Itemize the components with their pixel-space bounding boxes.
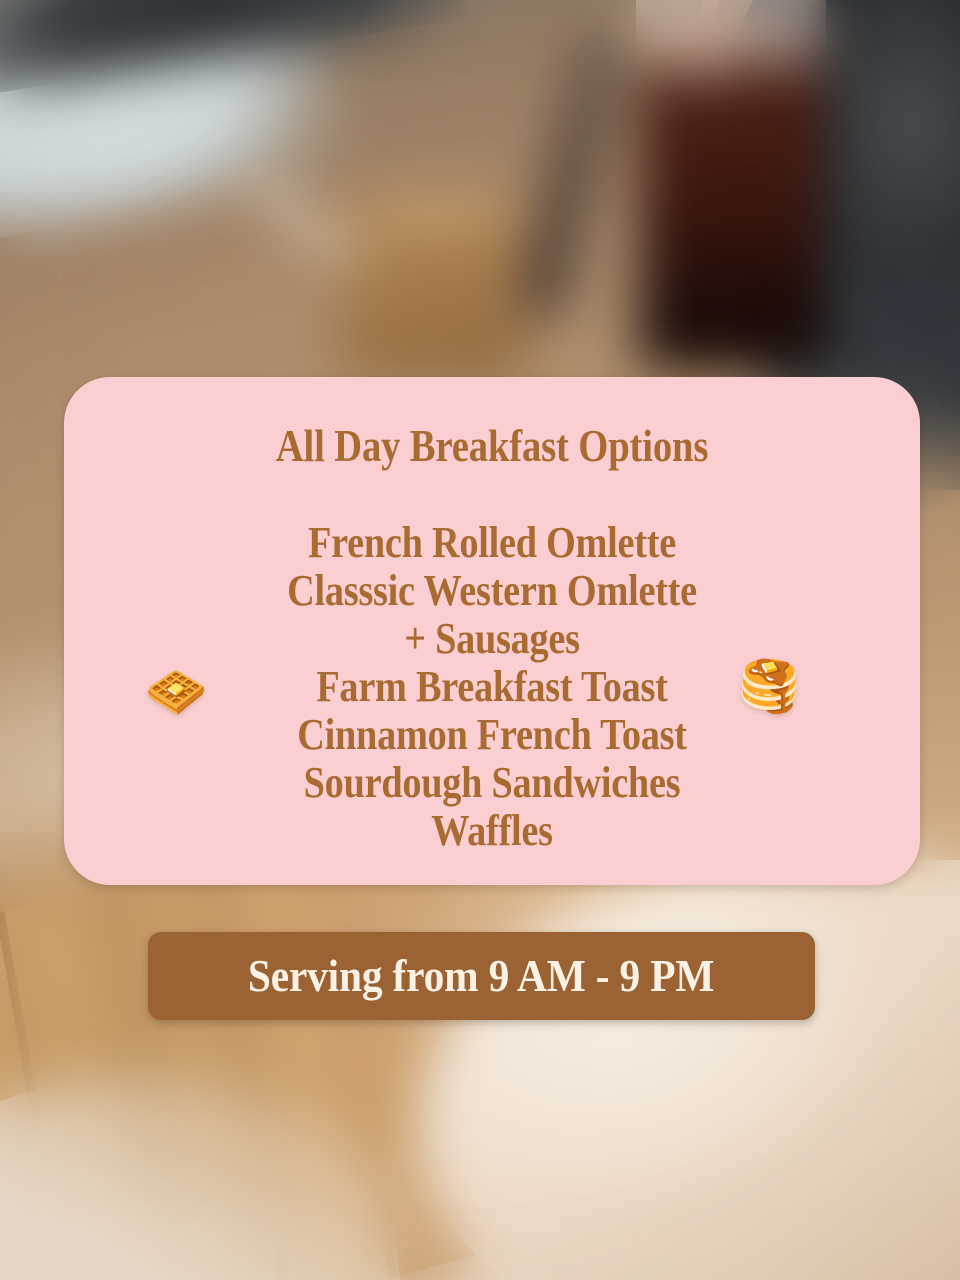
pancakes-icon: 🥞 bbox=[738, 661, 800, 711]
menu-item: Sourdough Sandwiches bbox=[120, 759, 865, 807]
menu-item: Classsic Western Omlette bbox=[120, 567, 865, 615]
page-title: All Day Breakfast Options bbox=[124, 424, 860, 469]
serving-hours-label: Serving from 9 AM - 9 PM bbox=[248, 953, 714, 999]
menu-item: French Rolled Omlette bbox=[120, 519, 865, 567]
status-badge: Serving from 9 AM - 9 PM bbox=[148, 932, 815, 1020]
breakfast-menu-poster: All Day Breakfast Options French Rolled … bbox=[0, 0, 960, 1280]
waffle-icon: 🧇 bbox=[145, 667, 207, 717]
menu-card: All Day Breakfast Options French Rolled … bbox=[64, 377, 920, 885]
menu-item: Cinnamon French Toast bbox=[120, 711, 865, 759]
menu-item: Waffles bbox=[120, 807, 865, 855]
menu-item: + Sausages bbox=[120, 615, 865, 663]
